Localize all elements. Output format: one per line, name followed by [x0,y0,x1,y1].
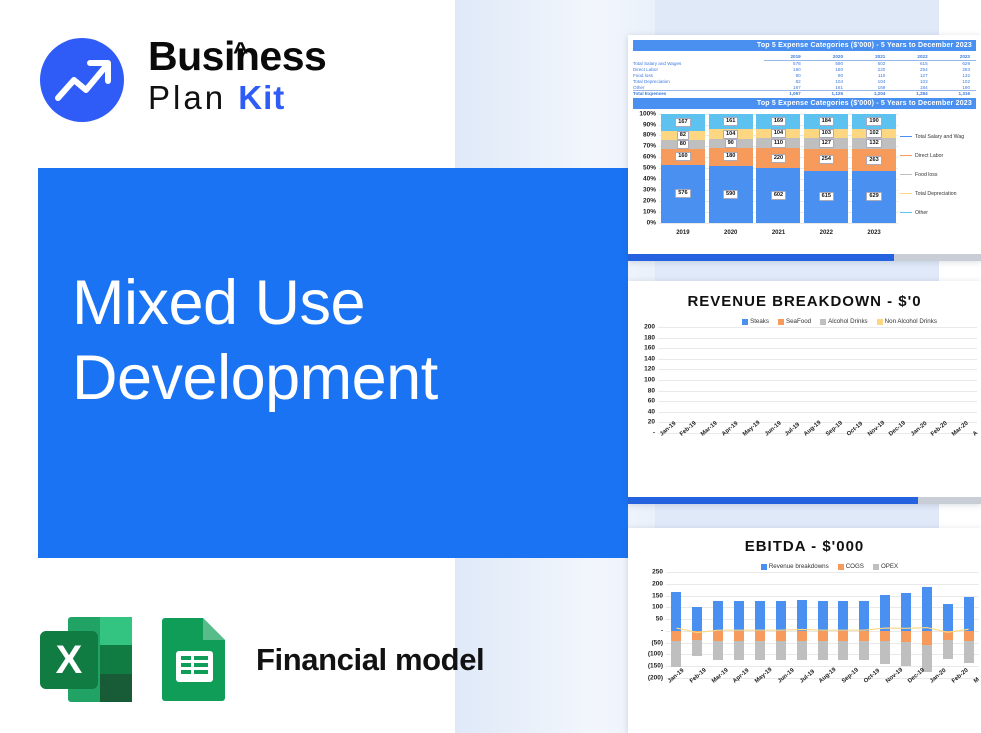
bar-segment: 590 [709,166,753,223]
bar-value-label: 184 [819,117,834,126]
legend-item[interactable]: Total Depreciation [900,191,976,197]
bar-segment: 132 [852,138,896,149]
table-header-row: 20192020202120222023 [633,53,976,61]
y-axis-tick: (100) [648,651,666,658]
page-title-line-2: Development [72,341,612,416]
legend-label: Other [915,210,928,216]
format-badges: X Financial model [38,612,484,707]
bar-segment: 160 [661,149,705,165]
bar-value-label: 132 [866,139,881,148]
bar-segment: 90 [709,139,753,148]
legend-label: Food loss [915,172,938,178]
y-axis-tick: 30% [643,186,659,193]
table-cell: 1,125 [807,90,849,96]
card-gray-bar [894,254,981,261]
x-axis-tick: 2019 [676,230,689,236]
bar-segment: 104 [756,129,800,138]
y-axis-tick: 90% [643,121,659,128]
bar-value-label: 615 [819,192,834,201]
x-axis-tick: 2020 [724,230,737,236]
bar-value-label: 590 [723,190,738,199]
table-col-header [633,53,764,61]
bar-value-label: 220 [771,154,786,163]
bar-segment: 263 [852,149,896,171]
y-axis-tick: 150 [652,592,666,599]
legend-item[interactable]: Direct Labor [900,153,976,159]
expense-table-wrap: 20192020202120222023 Total Salary and Wa… [628,51,981,97]
table-cell: 1,316 [934,90,976,96]
revenue-chart-area: 20018016014012010080604020- Jan-19Feb-19… [628,317,981,467]
table-cell: 1,204 [849,90,891,96]
x-axis-tick: 2023 [867,230,880,236]
y-axis-tick: 10% [643,208,659,215]
bar-segment: 602 [756,168,800,222]
bar-segment: 103 [804,129,848,138]
table-row: Total Expenses1,0671,1251,2041,2841,316 [633,90,976,96]
bar-segment: 161 [709,114,753,130]
y-axis-tick: 250 [652,569,666,576]
card-gray-bar [918,497,981,504]
stacked-bar[interactable]: 169104110220602 [756,114,800,223]
brand-kit-text: Kit [238,79,285,116]
expense-chart-title: Top 5 Expense Categories ($'000) - 5 Yea… [633,98,976,109]
card-accent-bar [628,497,918,504]
bar-value-label: 80 [677,140,689,149]
table-col-header: 2022 [891,53,933,61]
bar-segment: 127 [804,138,848,149]
ebitda-plot: 25020015010050-(50)(100)(150)(200) [666,572,979,678]
bar-value-label: 629 [866,192,881,201]
y-axis-tick: (150) [648,663,666,670]
expense-table-title: Top 5 Expense Categories ($'000) - 5 Yea… [633,40,976,51]
bar-segment: 102 [852,129,896,138]
bar-segment: 180 [709,148,753,165]
google-sheets-icon [159,615,231,705]
bar-value-label: 127 [819,139,834,148]
growth-arrow-circle-icon [38,36,126,124]
bar-value-label: 160 [675,152,690,161]
slide-cover: Business ^ Plan Kit Mixed Use Developmen… [0,0,981,733]
bar-segment: 169 [756,114,800,129]
y-axis-tick: 180 [644,334,658,341]
ebitda-x-axis: Jan-19Feb-19Mar-19Apr-19May-19Jun-19Jul-… [666,680,979,686]
legend-marker [900,136,912,138]
legend-marker [900,174,912,176]
svg-text:X: X [56,638,83,682]
bar-segment: 629 [852,171,896,223]
bar-value-label: 190 [866,117,881,126]
bar-segment: 190 [852,114,896,130]
legend-item[interactable]: Total Salary and Wag [900,134,976,140]
y-axis-tick: 70% [643,143,659,150]
brand-plan-text: Plan [148,79,226,116]
revenue-x-axis: Jan-19Feb-19Mar-19Apr-19May-19Jun-19Jul-… [658,433,977,439]
table-col-header: 2023 [934,53,976,61]
legend-marker [900,155,912,157]
bar-group: 1678280160576161104901805901691041102206… [659,114,898,223]
y-axis-tick: 160 [644,345,658,352]
x-axis-tick: 2021 [772,230,785,236]
y-axis-tick: 80 [648,387,658,394]
page-title: Mixed Use Development [72,266,612,416]
table-col-header: 2020 [807,53,849,61]
table-cell: 1,067 [764,90,806,96]
table-col-header: 2019 [764,53,806,61]
expense-legend: Total Salary and WagDirect LaborFood los… [900,134,976,229]
bar-segment: 254 [804,149,848,171]
legend-marker [900,212,912,214]
legend-item[interactable]: Food loss [900,172,976,178]
legend-marker [900,193,912,195]
bar-segment: 104 [709,129,753,139]
y-axis-tick: 40 [648,408,658,415]
stacked-bar[interactable]: 184103127254615 [804,114,848,223]
bar-value-label: 180 [723,152,738,161]
revenue-plot: 20018016014012010080604020- [658,327,977,433]
stacked-bar[interactable]: 16110490180590 [709,114,753,223]
y-axis-tick: 50 [656,616,666,623]
y-axis-tick: 20% [643,197,659,204]
stacked-bar[interactable]: 1678280160576 [661,114,705,223]
gridline [659,223,898,224]
y-axis-tick: (200) [648,675,666,682]
expense-chart-area: 100%90%80%70%60%50%40%30%20%10%0%1678280… [633,112,976,237]
y-axis-tick: 200 [652,580,666,587]
bar-value-label: 82 [677,131,689,140]
bar-segment: 184 [804,114,848,130]
y-axis-tick: 120 [644,366,658,373]
y-axis-tick: 40% [643,176,659,183]
bar-segment: 82 [661,131,705,140]
expense-plot: 100%90%80%70%60%50%40%30%20%10%0%1678280… [659,114,898,223]
brand-line-1: Business ^ [148,33,348,79]
expense-table: 20192020202120222023 Total Salary and Wa… [633,53,976,97]
bar-segment: 576 [661,165,705,223]
bar-segment: 615 [804,171,848,223]
y-axis-tick: 100 [644,377,658,384]
y-axis-tick: 140 [644,355,658,362]
bar-value-label: 576 [675,189,690,198]
stacked-bar[interactable]: 190102132263629 [852,114,896,223]
table-row-label: Total Expenses [633,90,764,96]
bar-value-label: 254 [819,155,834,164]
revenue-chart-title: REVENUE BREAKDOWN - $'0 [628,293,981,310]
y-axis-tick: (50) [651,639,666,646]
x-axis-tick: 2022 [820,230,833,236]
bar-group [658,327,977,433]
circumflex-accent-icon: ^ [233,28,248,74]
bar-value-label: 263 [866,156,881,165]
y-axis-tick: 200 [644,324,658,331]
y-axis-tick: 0% [647,219,659,226]
legend-label: Direct Labor [915,153,943,159]
table-col-header: 2021 [849,53,891,61]
expense-x-axis: 20192020202120222023 [659,230,898,236]
page-title-line-1: Mixed Use [72,266,612,341]
card-accent-bar [628,254,894,261]
bar-value-label: 102 [866,129,881,138]
bar-value-label: 103 [819,129,834,138]
y-axis-tick: 100% [639,110,659,117]
brand-logo: Business ^ Plan Kit [38,33,338,128]
ebitda-chart-title: EBITDA - $'000 [628,538,981,555]
table-cell: 1,284 [891,90,933,96]
bar-value-label: 602 [771,191,786,200]
ebitda-line [666,572,979,678]
ebitda-chart-area: 25020015010050-(50)(100)(150)(200) Jan-1… [628,566,981,716]
y-axis-tick: 80% [643,132,659,139]
bar-value-label: 167 [675,118,690,127]
bar-value-label: 161 [723,117,738,126]
brand-wordmark: Business ^ Plan Kit [148,33,348,117]
bar-value-label: 169 [771,117,786,126]
bar-segment: 80 [661,140,705,149]
y-axis-tick: 60% [643,154,659,161]
x-axis-tick: M [973,677,981,685]
bar-value-label: 90 [725,139,737,148]
legend-label: Total Depreciation [915,191,957,197]
card-revenue-breakdown[interactable]: REVENUE BREAKDOWN - $'0 SteaksSeaFoodAlc… [628,281,981,504]
card-expense-categories[interactable]: Top 5 Expense Categories ($'000) - 5 Yea… [628,35,981,261]
legend-item[interactable]: Other [900,210,976,216]
y-axis-tick: 20 [648,419,658,426]
bar-value-label: 104 [771,129,786,138]
bar-segment: 220 [756,148,800,168]
y-axis-tick: 50% [643,165,659,172]
card-ebitda[interactable]: EBITDA - $'000 Revenue breakdownsCOGSOPE… [628,528,981,733]
bar-value-label: 104 [723,130,738,139]
bar-segment: 167 [661,114,705,131]
x-axis-tick: A [972,430,979,437]
bar-segment: 110 [756,138,800,148]
y-axis-tick: 60 [648,398,658,405]
y-axis-tick: 100 [652,604,666,611]
brand-line-2: Plan Kit [148,79,348,117]
microsoft-excel-icon: X [38,615,134,705]
bar-value-label: 110 [771,139,786,148]
financial-model-label: Financial model [256,642,484,678]
title-banner: Mixed Use Development [38,168,628,558]
legend-label: Total Salary and Wag [915,134,964,140]
